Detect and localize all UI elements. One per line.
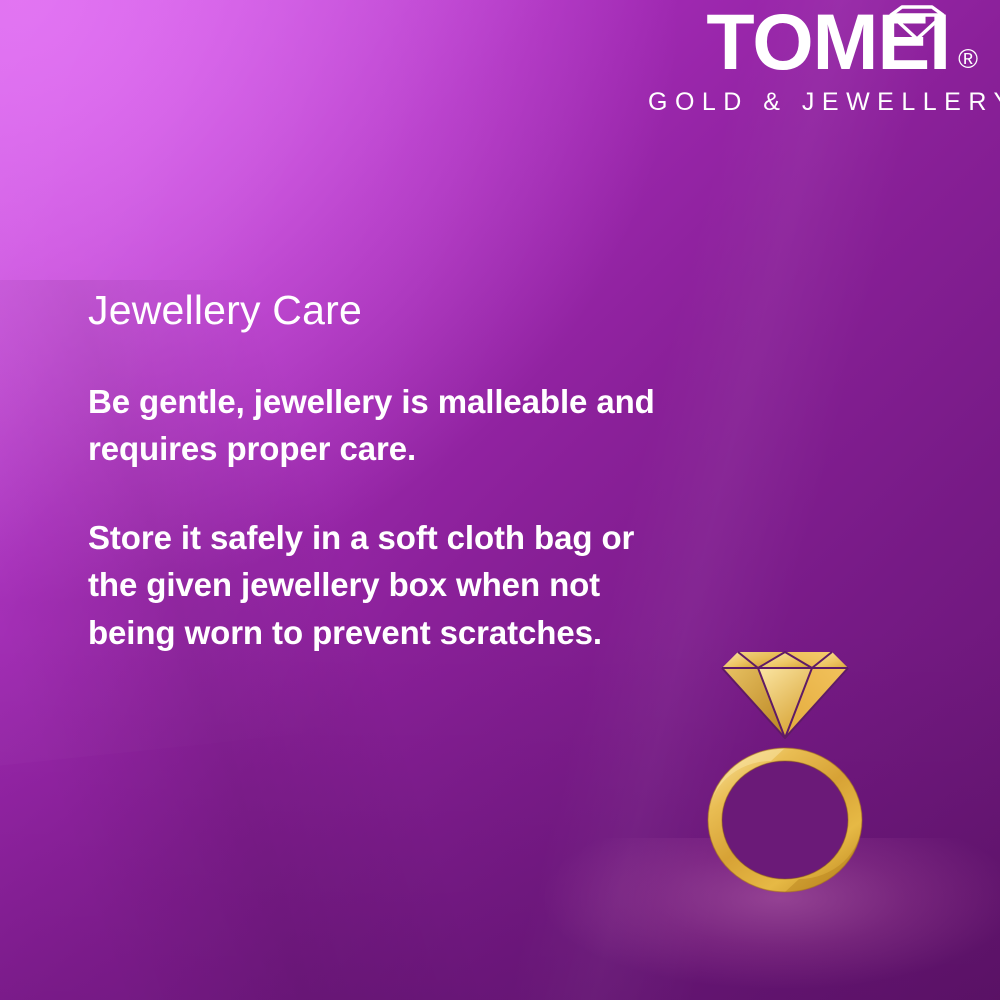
brand-tagline: GOLD & JEWELLERY: [648, 88, 978, 117]
diamond-outline-icon: [886, 4, 948, 42]
brand-logo: TOMEI ® GOLD & JEWELLERY: [648, 6, 978, 117]
gold-diamond-icon: [722, 652, 848, 738]
page-title: Jewellery Care: [88, 288, 668, 334]
poster-canvas: TOMEI ® GOLD & JEWELLERY Jewellery Care …: [0, 0, 1000, 1000]
care-paragraph-1: Be gentle, jewellery is malleable and re…: [88, 378, 668, 472]
registered-trademark-icon: ®: [958, 46, 978, 73]
brand-wordmark-row: TOMEI ®: [648, 6, 978, 79]
care-copy-block: Jewellery Care Be gentle, jewellery is m…: [88, 288, 668, 656]
care-paragraph-2: Store it safely in a soft cloth bag or t…: [88, 514, 668, 656]
gold-ring-band-icon: [708, 748, 862, 892]
diamond-ring-illustration: [690, 640, 880, 900]
